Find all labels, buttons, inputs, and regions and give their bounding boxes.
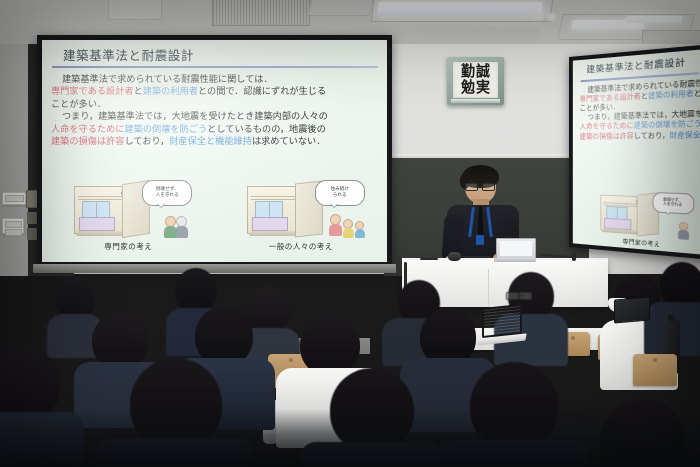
- student-head: [300, 314, 360, 376]
- bubble-line: 住み続け: [331, 187, 349, 192]
- main-projection-screen: 建築基準法と耐震設計 建築基準法で求められている耐震性能に関しては． 専門家であ…: [37, 35, 392, 267]
- slide-run-highlight: 建築の損傷は許容: [51, 136, 125, 147]
- speech-bubble: 倒壊せず、 人を守れる: [652, 192, 694, 214]
- slide-illustrations-secondary: 倒壊せず、 人を守れる 専門家の考え: [587, 167, 700, 252]
- slide-run: としているものの，地震後の: [207, 124, 326, 135]
- speech-bubble: 住み続け られる: [315, 180, 365, 206]
- person-group-icon: [142, 210, 194, 238]
- student-head: [246, 286, 290, 334]
- slide-run-highlight: 建築の損傷は許容: [580, 131, 634, 140]
- slide-title: 建築基準法と耐震設計: [51, 48, 378, 63]
- illustration-expert-view-secondary: 倒壊せず、 人を守れる 専門家の考え: [601, 189, 684, 251]
- secondary-screen-surface: 建築基準法と耐震設計 建築基準法で求められている耐震性能に関しては． 専門家であ…: [573, 49, 700, 255]
- glasses-icon: [465, 183, 495, 190]
- slide-run: 建築基準法で求められている耐震性能に関しては．: [62, 74, 273, 85]
- slide-run: つまり，建築基準法では，大地震を受けたとき建築内部の人々の: [62, 111, 328, 122]
- ceiling-panel: [420, 28, 540, 44]
- slide-run: ことが多い．: [51, 99, 106, 110]
- slide-secondary: 建築基準法と耐震設計 建築基準法で求められている耐震性能に関しては． 専門家であ…: [573, 49, 700, 255]
- slide-line-3: ことが多い．: [51, 99, 378, 112]
- light-switch-panel-lower[interactable]: [2, 218, 24, 234]
- foundation-icon: [79, 217, 115, 231]
- slide-run-highlight: 専門家である設計者: [51, 86, 134, 97]
- glasses-icon: [506, 292, 532, 299]
- slide-run: との間で．認識にずれが生じる: [198, 86, 326, 97]
- plaque-char: 勉: [461, 80, 475, 97]
- slide-run: と: [134, 86, 143, 97]
- slide-line-6: 建築の損傷は許容しており，財産保全と機能維持は求めていない．: [51, 136, 378, 149]
- tablet-screen: [482, 304, 522, 338]
- main-screen-surface: 建築基準法と耐震設計 建築基準法で求められている耐震性能に関しては． 専門家であ…: [42, 40, 387, 262]
- lanyard: [468, 207, 493, 241]
- light-switch-panel-upper[interactable]: [2, 192, 26, 205]
- calligraphy-plaque: 誠 実 勤 勉: [447, 57, 504, 105]
- slide-run-highlight: 建築の倒壊を防ごう: [125, 124, 208, 135]
- recessed-spotlight: [535, 13, 542, 19]
- switch-toggle[interactable]: [5, 229, 22, 236]
- ceiling-panel: [307, 0, 374, 16]
- slide-line-2: 専門家である設計者と建築の利用者との間で．認識にずれが生じる: [51, 86, 378, 99]
- illustration-public-view: 住み続け られる: [227, 178, 375, 252]
- plaque-char: 誠: [476, 64, 490, 81]
- student-tablet[interactable]: [482, 304, 522, 338]
- id-badge: [476, 235, 484, 245]
- slide-run: しており，: [634, 131, 670, 140]
- foundation-icon: [252, 217, 288, 231]
- plaque-shelf: [451, 99, 500, 103]
- slide-main: 建築基準法と耐震設計 建築基準法で求められている耐震性能に関しては． 専門家であ…: [42, 40, 387, 262]
- slide-line-5: 人命を守るために建築の倒壊を防ごうとしているものの，地震後の: [51, 124, 378, 137]
- slide-run-highlight: 建築の利用者: [648, 89, 694, 100]
- slide-run-highlight: 人命を守るために: [51, 124, 125, 135]
- slide-run-highlight: 建築の利用者: [143, 86, 198, 97]
- slide-run-highlight: 財産保全と機能維持: [169, 136, 252, 147]
- secondary-projection-screen: 建築基準法と耐震設計 建築基準法で求められている耐震性能に関しては． 専門家であ…: [569, 44, 700, 260]
- bubble-line: 倒壊せず、: [156, 187, 179, 192]
- person-group-icon: [652, 215, 695, 240]
- slide-run-highlight: 人命を守るために: [580, 122, 634, 132]
- title-underline: [52, 66, 378, 68]
- switch-toggle[interactable]: [5, 195, 24, 202]
- switch-toggle[interactable]: [5, 221, 22, 228]
- chair[interactable]: [633, 354, 677, 386]
- family-group-icon: [315, 210, 367, 238]
- slide-run: は求めていない．: [252, 136, 326, 147]
- slide-run-highlight: 財産保全と機能維持: [669, 129, 700, 139]
- plaque-char: 実: [476, 80, 490, 97]
- bubble-line: られる: [333, 193, 347, 198]
- slide-body-secondary: 建築基準法で求められている耐震性能に関しては． 専門家である設計者と建築の利用者…: [580, 78, 699, 141]
- air-conditioning-vent: [212, 0, 310, 26]
- illustration-expert-view: 倒壊せず、 人を守れる: [54, 178, 202, 252]
- foreground-shadow: [0, 409, 700, 467]
- slide-line-1: 建築基準法で求められている耐震性能に関しては．: [51, 74, 378, 87]
- slide-run: と: [641, 91, 648, 100]
- recessed-spotlight: [548, 14, 555, 20]
- student-laptop[interactable]: [614, 296, 650, 323]
- plaque-char: 勤: [461, 64, 475, 81]
- slide-run-highlight: 建築の倒壊を防ごう: [634, 120, 700, 130]
- speech-bubble: 倒壊せず、 人を守れる: [142, 180, 192, 206]
- plaque-paper: 誠 実 勤 勉: [453, 62, 498, 98]
- slide-run: ことが多い．: [580, 103, 620, 113]
- bubble-line: 人を守れる: [663, 203, 682, 208]
- ceiling-panel: [371, 0, 554, 22]
- student-head: [195, 306, 253, 366]
- bubble-line: 人を守れる: [156, 193, 179, 198]
- slide-line-4: つまり，建築基準法では，大地震を受けたとき建築内部の人々の: [51, 111, 378, 124]
- slide-illustrations: 倒壊せず、 人を守れる: [42, 178, 387, 252]
- lecture-hall-photo: 誠 実 勤 勉 建築基準法と耐震設計: [0, 0, 700, 467]
- ceiling-panel: [108, 0, 162, 20]
- slide-run: しており，: [125, 136, 170, 147]
- slide-body: 建築基準法で求められている耐震性能に関しては． 専門家である設計者と建築の利用者…: [51, 74, 378, 150]
